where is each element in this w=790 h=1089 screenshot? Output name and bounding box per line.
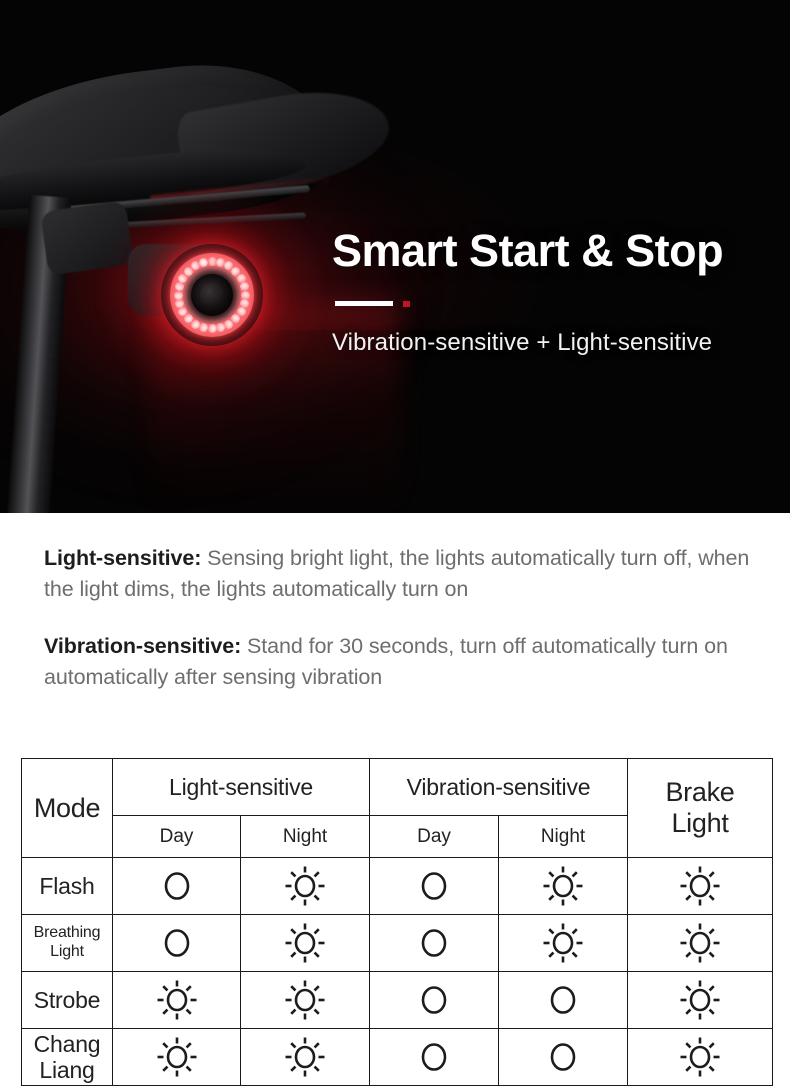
off-circle-icon [548,983,578,1017]
light-sensitive-paragraph: Light-sensitive: Sensing bright light, t… [44,543,774,604]
off-circle-icon [162,926,192,960]
mode-state-cell [370,1029,499,1086]
led-dot [199,323,208,332]
mode-state-cell [241,972,370,1029]
table-row: ChangLiang [22,1029,773,1086]
sun-icon [678,1035,722,1079]
mode-state-cell [628,915,773,972]
mode-state-cell [499,1029,628,1086]
mode-state-cell [499,972,628,1029]
header-vibration-sensitive: Vibration-sensitive [370,759,628,816]
mode-state-cell [370,858,499,915]
led-dot [216,323,225,332]
product-detail-page: Smart Start & Stop Vibration-sensitive +… [0,0,790,1089]
header-light-day: Day [113,816,241,858]
off-circle-icon [162,869,192,903]
mode-name-line: Flash [39,873,94,899]
table-row: BreathingLight [22,915,773,972]
sun-icon [283,864,327,908]
hero-text-block: Smart Start & Stop Vibration-sensitive +… [332,227,772,357]
hero-headline: Smart Start & Stop [332,227,772,274]
taillight-center-lens [191,274,233,316]
sun-icon [678,921,722,965]
mode-name-cell: Flash [22,858,113,915]
led-dot [240,282,249,291]
mode-name-line: Chang [34,1031,101,1057]
mode-state-cell [113,858,241,915]
led-dot [184,314,193,323]
mode-state-cell [241,858,370,915]
mode-state-cell [370,972,499,1029]
divider-accent-dot [403,301,410,307]
mode-name-line: Liang [39,1057,94,1083]
off-circle-icon [419,983,449,1017]
sun-icon [541,921,585,965]
sun-icon [283,1035,327,1079]
mode-state-cell [499,915,628,972]
bicycle-taillight [161,244,263,346]
mode-name-cell: ChangLiang [22,1029,113,1086]
sun-icon [541,864,585,908]
mode-state-cell [628,858,773,915]
mode-state-cell [241,1029,370,1086]
led-dot [241,291,250,300]
hero-divider [335,301,772,306]
led-dot [174,291,183,300]
led-dot [199,258,208,267]
sun-icon [283,921,327,965]
mode-name-line: Breathing [34,924,101,941]
mode-name-line: Light [50,943,84,960]
header-brake-light-line2: Light [671,808,728,838]
table-row: Flash [22,858,773,915]
led-dot [208,324,217,333]
mode-state-cell [628,972,773,1029]
header-vibration-day: Day [370,816,499,858]
sun-icon [155,1035,199,1079]
vibration-sensitive-paragraph: Vibration-sensitive: Stand for 30 second… [38,631,774,692]
table-body: FlashBreathingLightStrobeChangLiang [22,858,773,1086]
mode-name-line: Strobe [34,987,101,1013]
header-light-sensitive: Light-sensitive [113,759,370,816]
mode-state-cell [628,1029,773,1086]
mode-comparison-table-wrapper: Mode Light-sensitive Vibration-sensitive… [21,758,772,1086]
mode-state-cell [499,858,628,915]
header-brake-light: Brake Light [628,759,773,858]
hero-subheadline: Vibration-sensitive + Light-sensitive [332,329,772,357]
led-dot [224,320,233,329]
mode-comparison-table: Mode Light-sensitive Vibration-sensitive… [21,758,773,1086]
mode-state-cell [113,972,241,1029]
table-row: Strobe [22,972,773,1029]
off-circle-icon [419,926,449,960]
mode-state-cell [241,915,370,972]
led-dot [208,257,217,266]
sun-icon [678,864,722,908]
off-circle-icon [548,1040,578,1074]
mode-state-cell [113,1029,241,1086]
divider-bar [335,301,393,306]
vibration-sensitive-label: Vibration-sensitive: [44,634,241,658]
header-vibration-night: Night [499,816,628,858]
led-dot [175,282,184,291]
mode-name-cell: Strobe [22,972,113,1029]
mode-state-cell [370,915,499,972]
header-mode: Mode [22,759,113,858]
hero-photo: Smart Start & Stop Vibration-sensitive +… [0,0,790,513]
header-light-night: Night [241,816,370,858]
table-header-row-groups: Mode Light-sensitive Vibration-sensitive… [22,759,773,816]
off-circle-icon [419,869,449,903]
sun-icon [678,978,722,1022]
sun-icon [155,978,199,1022]
mode-name-cell: BreathingLight [22,915,113,972]
header-brake-light-line1: Brake [665,777,734,807]
off-circle-icon [419,1040,449,1074]
light-sensitive-label: Light-sensitive: [44,546,201,570]
mode-state-cell [113,915,241,972]
sun-icon [283,978,327,1022]
feature-description-block: Light-sensitive: Sensing bright light, t… [0,513,790,692]
